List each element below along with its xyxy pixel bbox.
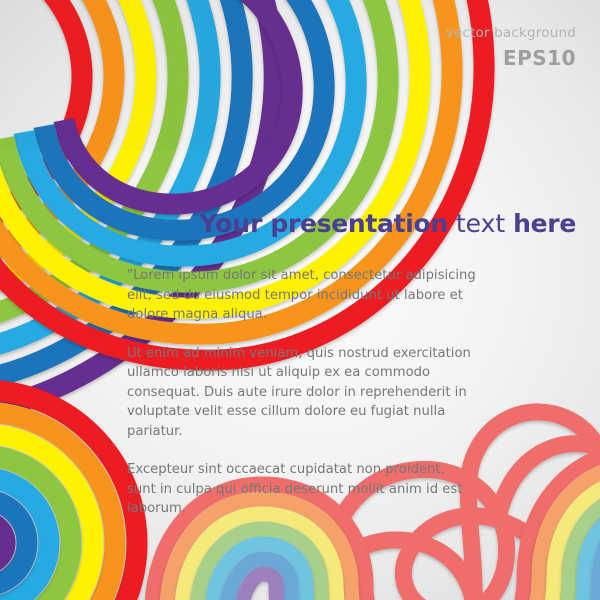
- format-label: EPS10: [503, 46, 576, 70]
- title-word-3: text: [456, 209, 505, 238]
- title-word-4: here: [513, 209, 576, 238]
- body-paragraph-1: "Lorem ipsum dolor sit amet, consectetur…: [127, 266, 477, 325]
- kicker-label: vector background: [446, 25, 576, 41]
- body-paragraph-3: Excepteur sint occaecat cupidatat non pr…: [127, 460, 477, 519]
- body-copy: "Lorem ipsum dolor sit amet, consectetur…: [127, 266, 477, 519]
- poster-canvas: vector background EPS10 Your presentatio…: [0, 0, 600, 600]
- title-word-2: presentation: [270, 209, 448, 238]
- body-paragraph-2: Ut enim ad minim veniam, quis nostrud ex…: [127, 344, 477, 442]
- content-layer: vector background EPS10 Your presentatio…: [0, 0, 600, 600]
- title-word-1: Your: [199, 209, 262, 238]
- page-title: Your presentation text here: [120, 210, 576, 238]
